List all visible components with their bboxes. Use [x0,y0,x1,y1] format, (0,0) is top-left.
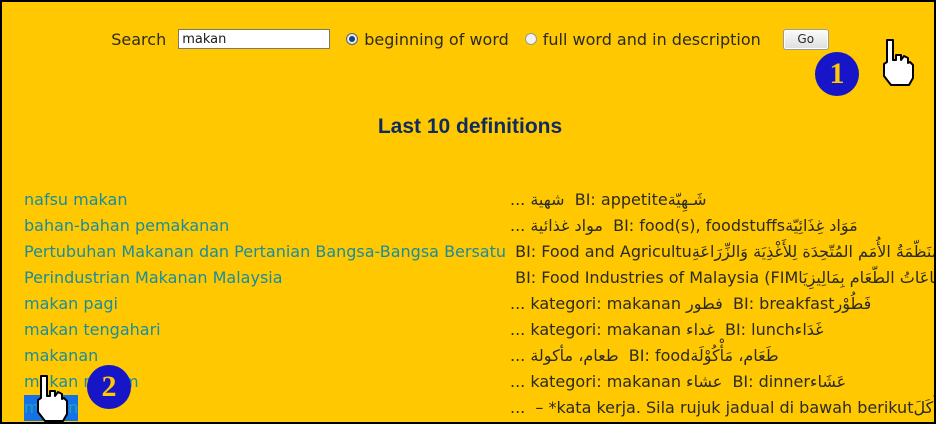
result-definition: صِنَاعَاتُ الطّعَام بِمَالِيزِيَا‎ BI: F… [510,265,936,291]
pointer-cursor-over-selected-term [30,374,70,424]
search-scope-radio-group: beginning of word full word and in descr… [346,30,777,49]
radio-option-beginning-of-word[interactable]: beginning of word [346,30,509,49]
go-button[interactable]: Go [783,29,829,50]
search-bar: Search beginning of word full word and i… [2,24,936,54]
search-label: Search [111,30,166,49]
result-term-link[interactable]: nafsu makan [24,187,127,213]
pointer-cursor-over-go-button [876,38,916,88]
result-row: Perindustrian Makanan Malaysiaصِنَاعَاتُ… [2,265,936,291]
result-row: makan tengahariغَدَاء‎ BI: lunch غداء ka… [2,317,936,343]
radio-option-full-word-and-description[interactable]: full word and in description [525,30,761,49]
result-row: makan malamعَشَاء‎ BI: dinner عشاء kateg… [2,369,936,395]
result-row: makananطَعَام، مَأْكُوْلَة‎ BI: food طعا… [2,343,936,369]
result-term-link[interactable]: bahan-bahan pemakanan [24,213,229,239]
result-row: makan pagiفَطُوْر‎ BI: breakfast فطور ka… [2,291,936,317]
result-definition: عَشَاء‎ BI: dinner عشاء kategori: makana… [510,369,846,395]
result-row: Pertubuhan Makanan dan Pertanian Bangsa-… [2,239,936,265]
result-term-link[interactable]: makan pagi [24,291,118,317]
result-definition: مَوَاد غِذَائِيّة‎ BI: food(s), foodstuf… [510,213,858,239]
page-title: Last 10 definitions [2,115,936,139]
radio-beginning-of-word-label: beginning of word [364,30,509,49]
result-definition: أَكَلَ‎ – *kata kerja. Sila rujuk jadual… [510,395,936,421]
result-row: makanأَكَلَ‎ – *kata kerja. Sila rujuk j… [2,395,936,421]
results-list: nafsu makanشَـهِيّة‎ BI: appetite شهية .… [2,187,936,421]
result-term-link[interactable]: Perindustrian Makanan Malaysia [24,265,283,291]
step-badge-2: 2 [87,365,131,409]
radio-beginning-of-word-icon[interactable] [346,33,358,45]
result-row: nafsu makanشَـهِيّة‎ BI: appetite شهية .… [2,187,936,213]
radio-full-word-and-description-label: full word and in description [543,30,761,49]
search-input[interactable] [178,29,330,49]
result-term-link[interactable]: makan tengahari [24,317,161,343]
result-term-link[interactable]: makanan [24,343,98,369]
browser-page: Search beginning of word full word and i… [0,0,936,424]
result-term-link[interactable]: Pertubuhan Makanan dan Pertanian Bangsa-… [24,239,506,265]
step-badge-1: 1 [815,52,859,96]
result-definition: مُنَظّمَةُ الأُمَم المُتّحِدَة لِلأَغْذِ… [510,239,936,265]
result-definition: فَطُوْر‎ BI: breakfast فطور kategori: ma… [510,291,871,317]
result-definition: شَـهِيّة‎ BI: appetite شهية ... [510,187,707,213]
result-definition: طَعَام، مَأْكُوْلَة‎ BI: food طعام، مأكو… [510,343,779,369]
result-definition: غَدَاء‎ BI: lunch غداء kategori: makanan… [510,317,824,343]
radio-full-word-and-description-icon[interactable] [525,33,537,45]
result-row: bahan-bahan pemakananمَوَاد غِذَائِيّة‎ … [2,213,936,239]
